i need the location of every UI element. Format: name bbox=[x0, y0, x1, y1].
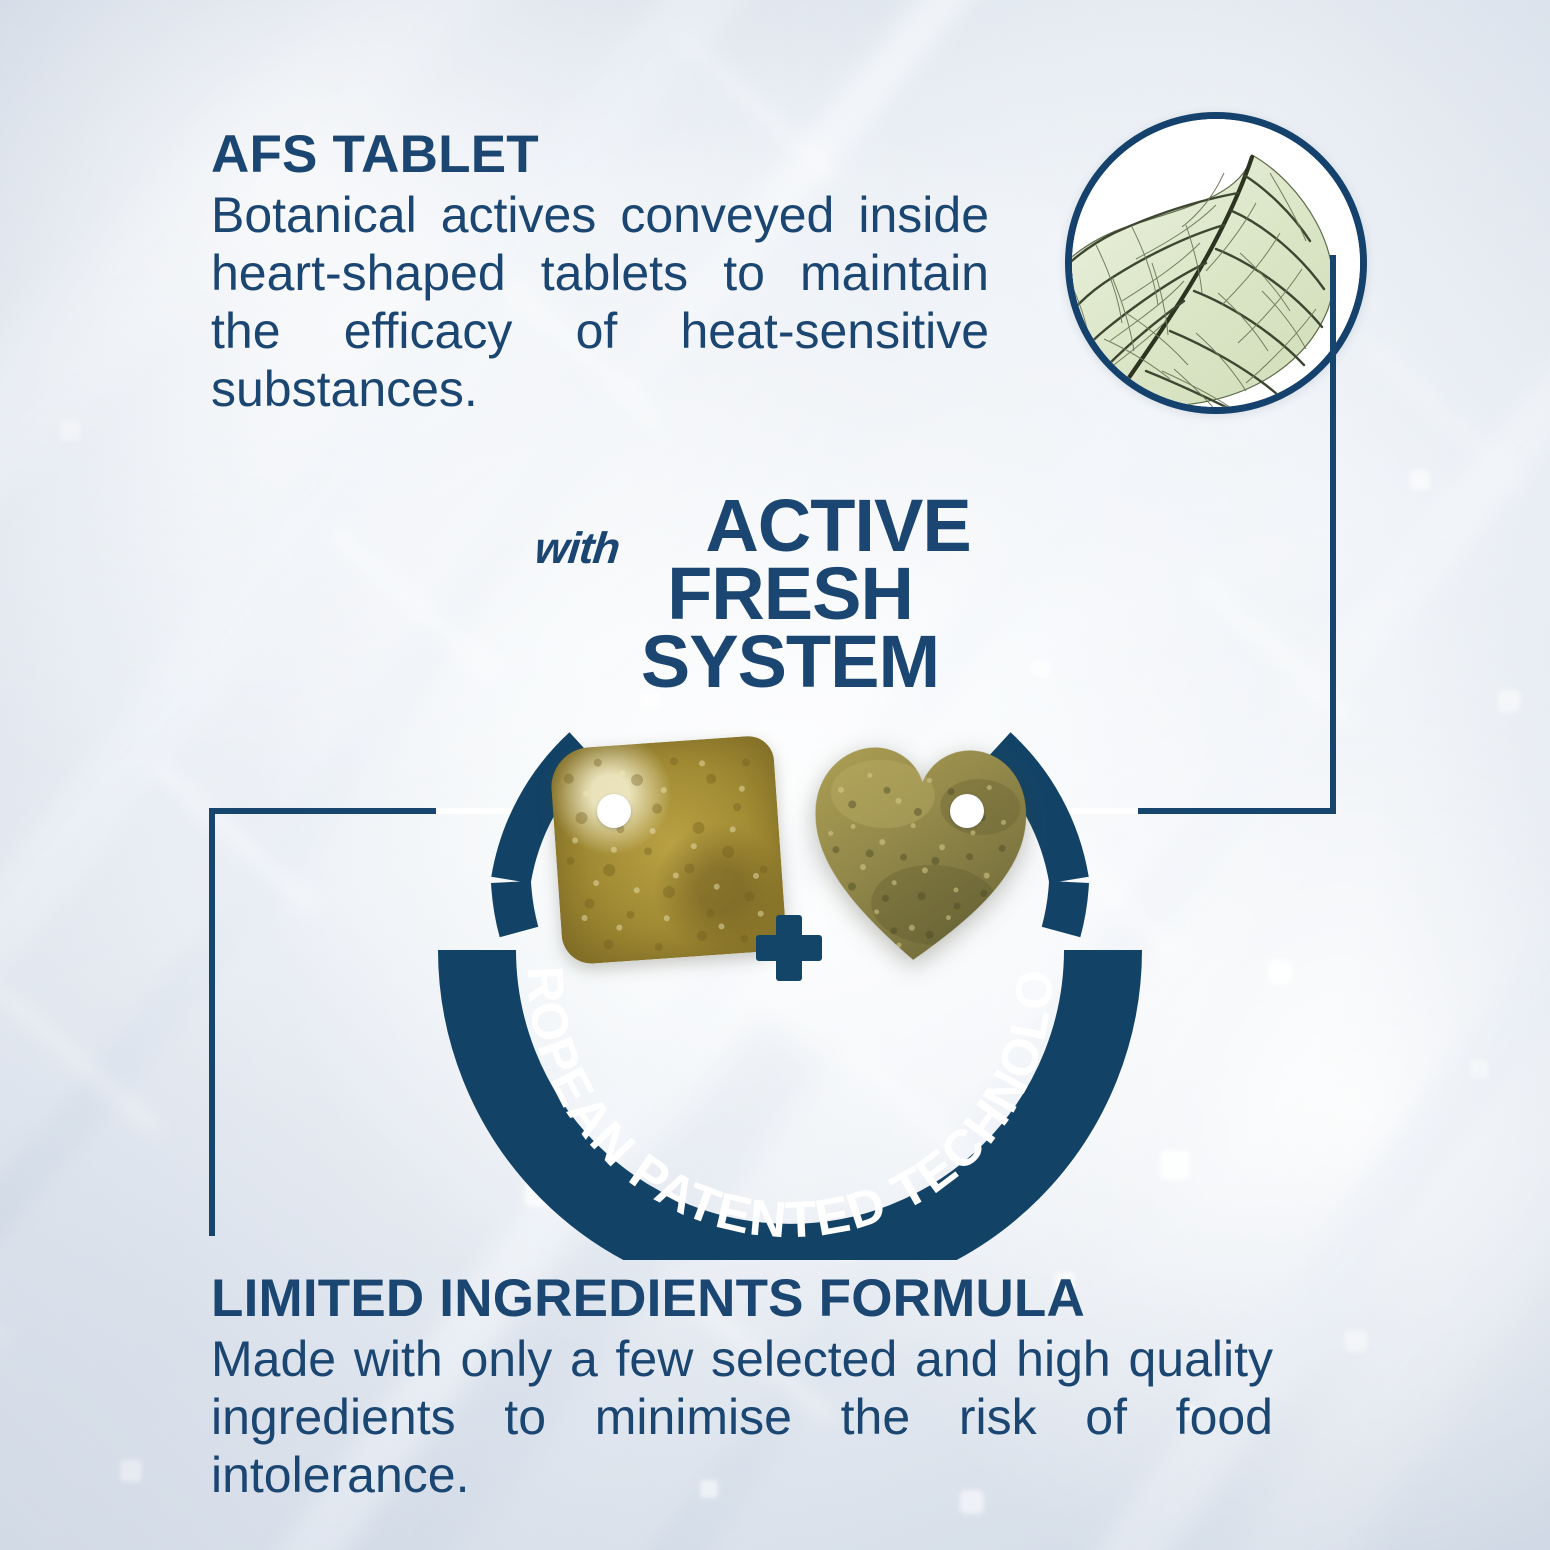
connector-line-left-vertical bbox=[209, 808, 215, 1236]
callout-dot-heart-tablet bbox=[950, 794, 984, 828]
leaf-badge bbox=[1065, 112, 1367, 414]
limited-ingredients-body: Made with only a few selected and high q… bbox=[211, 1330, 1273, 1504]
afs-tablet-title: AFS TABLET bbox=[211, 128, 989, 182]
callout-dot-cube-kibble bbox=[597, 794, 631, 828]
infographic-canvas: AFS TABLET Botanical actives conveyed in… bbox=[0, 0, 1550, 1550]
limited-ingredients-text-block: LIMITED INGREDIENTS FORMULA Made with on… bbox=[211, 1272, 1273, 1504]
afs-tablet-text-block: AFS TABLET Botanical actives conveyed in… bbox=[211, 128, 989, 418]
headline-line-fresh: FRESH bbox=[440, 560, 1140, 628]
connector-line-left-horizontal bbox=[209, 808, 441, 814]
cube-kibble-icon bbox=[549, 734, 788, 965]
plus-icon bbox=[753, 912, 825, 984]
ring-inner-arc-right-lower bbox=[1061, 882, 1069, 932]
headline-line-active: ACTIVE bbox=[440, 492, 1140, 560]
leaf-icon bbox=[1066, 113, 1366, 413]
ring-inner-arc-left-lower bbox=[511, 882, 519, 932]
connector-line-right-vertical bbox=[1330, 255, 1336, 812]
limited-ingredients-title: LIMITED INGREDIENTS FORMULA bbox=[211, 1272, 1273, 1326]
cube-kibble-texture bbox=[549, 734, 788, 965]
afs-tablet-body: Botanical actives conveyed inside heart-… bbox=[211, 186, 989, 418]
heart-tablet-icon bbox=[802, 728, 1036, 969]
